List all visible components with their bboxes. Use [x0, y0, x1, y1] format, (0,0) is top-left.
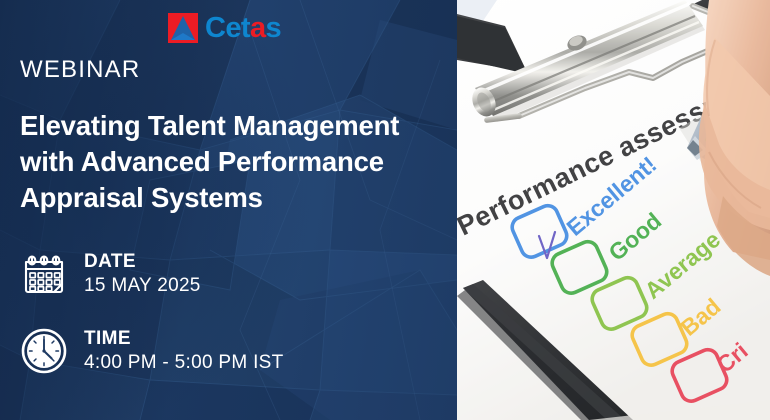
- time-label: TIME: [84, 329, 284, 350]
- logo-word-part-3: s: [265, 12, 281, 44]
- photo-illustration: Performance assessment Excellent! Good A…: [457, 0, 770, 420]
- time-value: 4:00 PM - 5:00 PM IST: [84, 352, 284, 374]
- clock-icon: [20, 327, 68, 375]
- page-title: Elevating Talent Management with Advance…: [20, 108, 445, 215]
- calendar-icon: [20, 250, 68, 298]
- date-label: DATE: [84, 252, 201, 273]
- date-value: 15 MAY 2025: [84, 275, 201, 297]
- webinar-promo-poster: Cetas WEBINAR Elevating Talent Managemen…: [0, 0, 770, 420]
- date-text-block: DATE 15 MAY 2025: [84, 252, 201, 297]
- time-text-block: TIME 4:00 PM - 5:00 PM IST: [84, 329, 284, 374]
- cetas-wordmark: Cetas: [205, 14, 281, 43]
- date-info-row: DATE 15 MAY 2025: [20, 250, 201, 298]
- logo-word-part-2: a: [250, 12, 266, 44]
- webinar-eyebrow-label: WEBINAR: [20, 58, 140, 82]
- time-info-row: TIME 4:00 PM - 5:00 PM IST: [20, 327, 284, 375]
- cetas-logo[interactable]: Cetas: [168, 13, 281, 43]
- logo-word-part-1: Cet: [205, 12, 250, 44]
- performance-assessment-photo: Performance assessment Excellent! Good A…: [457, 0, 770, 420]
- cetas-triangle-mark-icon: [168, 13, 198, 43]
- left-content-panel: Cetas WEBINAR Elevating Talent Managemen…: [0, 0, 457, 420]
